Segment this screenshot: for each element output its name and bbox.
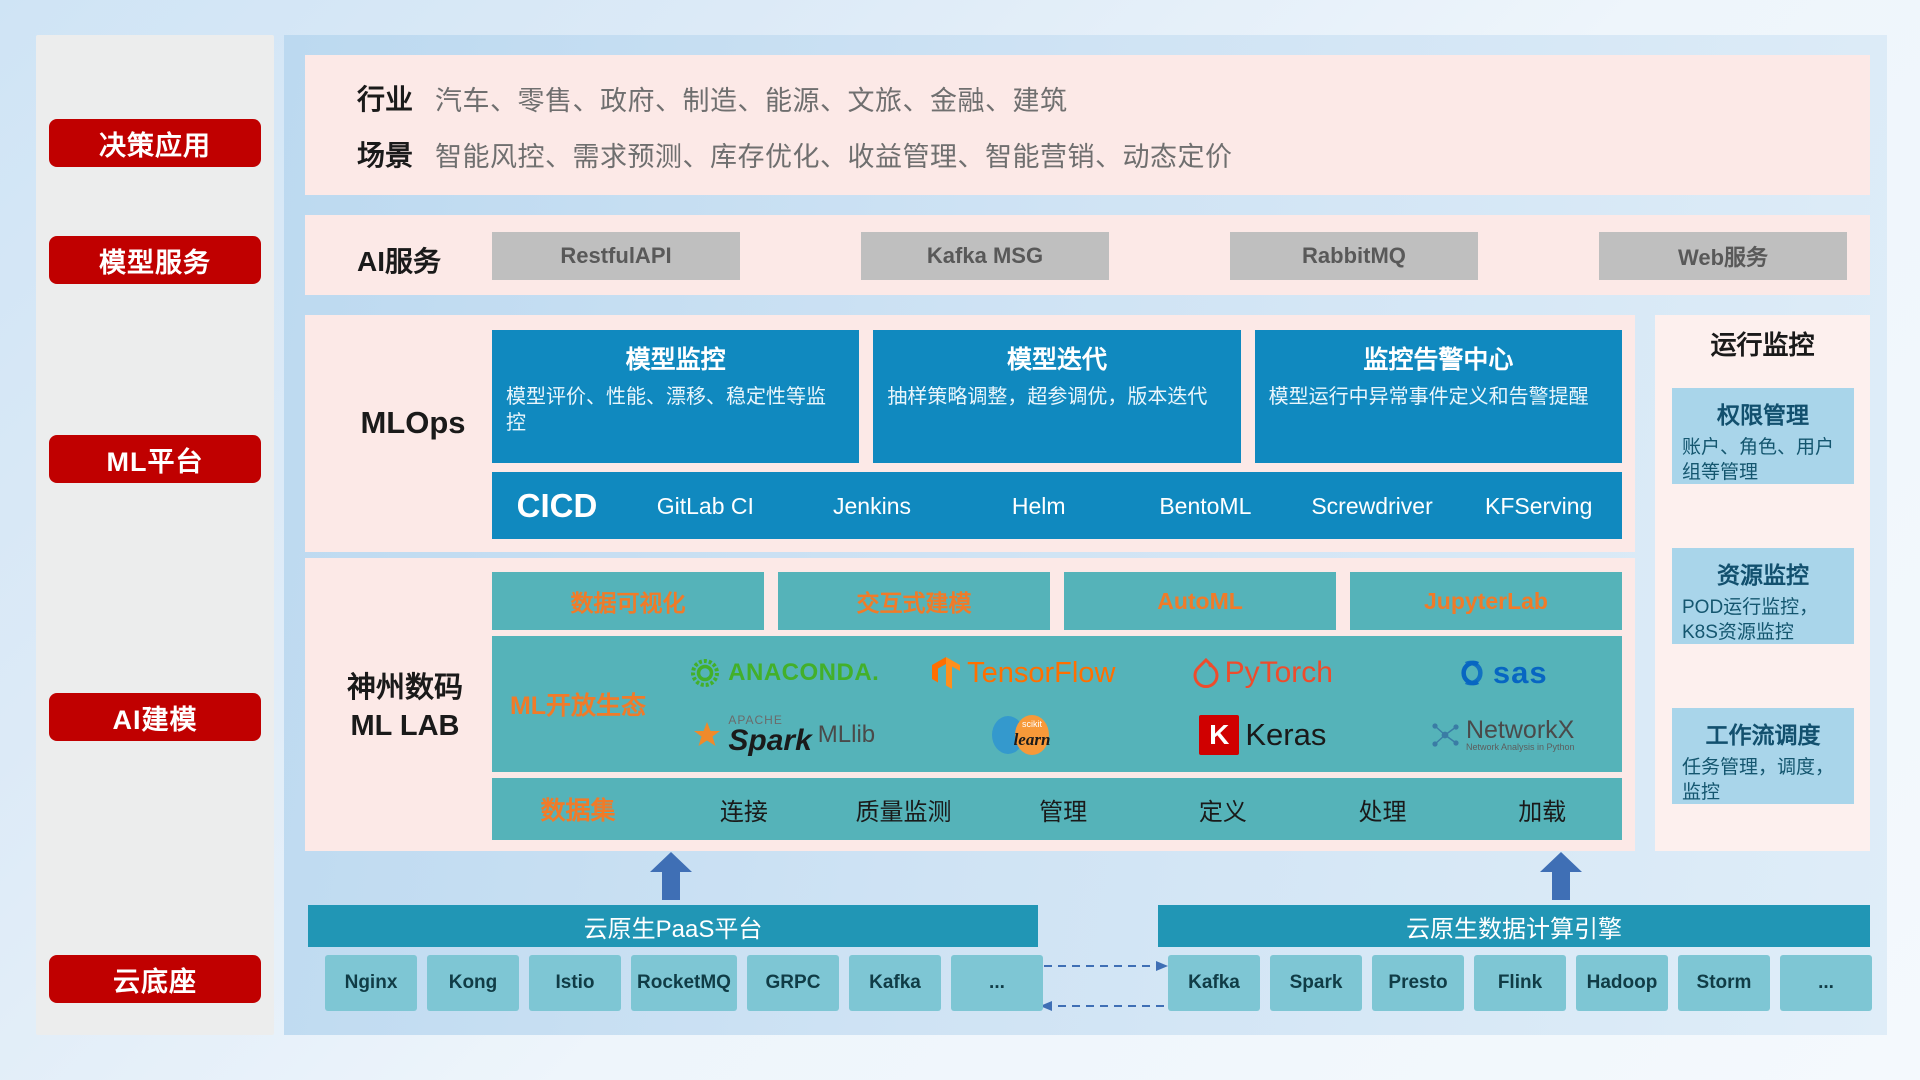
rail-item-label: 模型服务: [99, 241, 211, 280]
data-engine-tag-presto[interactable]: Presto: [1372, 955, 1464, 1011]
ai-service-chip-web-service[interactable]: Web服务: [1599, 232, 1847, 280]
rail-item-label: AI建模: [113, 698, 198, 737]
dataset-item-quality[interactable]: 质量监测: [824, 792, 984, 827]
ai-service-chip-list: RestfulAPI Kafka MSG RabbitMQ Web服务: [492, 232, 1852, 280]
tensorflow-label: TensorFlow: [967, 657, 1115, 690]
ml-ecosystem-title: ML开放生态: [492, 686, 664, 722]
card-desc: 任务管理，调度，监控: [1682, 756, 1844, 804]
networkx-logo: NetworkX Network Analysis in Python: [1383, 704, 1623, 766]
data-engine-tag-spark[interactable]: Spark: [1270, 955, 1362, 1011]
paas-tag-kong[interactable]: Kong: [427, 955, 519, 1011]
card-desc: 模型运行中异常事件定义和告警提醒: [1269, 384, 1608, 410]
industry-label: 行业: [305, 78, 435, 118]
mlops-label: MLOps: [338, 405, 488, 441]
scenario-label: 场景: [305, 134, 435, 174]
bidirectional-dashed-link-icon: [1040, 950, 1168, 1020]
industry-values: 汽车、零售、政府、制造、能源、文旅、金融、建筑: [435, 79, 1068, 118]
cicd-item-helm[interactable]: Helm: [955, 493, 1122, 518]
rail-item-label: 决策应用: [99, 124, 211, 163]
ml-ecosystem-bar: ML开放生态 ANACONDA. TensorFlow: [492, 636, 1622, 772]
data-engine-tag-list: Kafka Spark Presto Flink Hadoop Storm ..…: [1168, 955, 1872, 1011]
data-engine-tag-storm[interactable]: Storm: [1678, 955, 1770, 1011]
scikit-learn-logo: scikit learn: [904, 704, 1144, 766]
data-engine-tag-more[interactable]: ...: [1780, 955, 1872, 1011]
card-title: 工作流调度: [1682, 716, 1844, 750]
dataset-item-connect[interactable]: 连接: [664, 792, 824, 827]
mlops-card-model-monitoring[interactable]: 模型监控 模型评价、性能、漂移、稳定性等监控: [492, 330, 859, 463]
mlops-card-list: 模型监控 模型评价、性能、漂移、稳定性等监控 模型迭代 抽样策略调整，超参调优，…: [492, 330, 1622, 463]
paas-tag-istio[interactable]: Istio: [529, 955, 621, 1011]
ai-service-chip-rabbitmq[interactable]: RabbitMQ: [1230, 232, 1478, 280]
cicd-item-gitlab-ci[interactable]: GitLab CI: [622, 493, 789, 518]
sas-logo: sas: [1383, 642, 1623, 704]
ml-lab-label-line1: 神州数码: [322, 670, 488, 708]
tab-interactive-modeling[interactable]: 交互式建模: [778, 572, 1050, 630]
paas-tag-grpc[interactable]: GRPC: [747, 955, 839, 1011]
networkx-label: NetworkX: [1466, 717, 1575, 743]
anaconda-label: ANACONDA.: [728, 659, 879, 687]
pytorch-label: PyTorch: [1225, 656, 1333, 690]
mllib-label: MLlib: [818, 721, 875, 749]
ml-lab-tab-list: 数据可视化 交互式建模 AutoML JupyterLab: [492, 572, 1622, 630]
tensorflow-glyph: [931, 656, 961, 690]
dataset-item-manage[interactable]: 管理: [983, 792, 1143, 827]
ml-lab-label-line2: ML LAB: [322, 708, 488, 746]
rail-item-ml-platform[interactable]: ML平台: [49, 435, 261, 483]
scenario-values: 智能风控、需求预测、库存优化、收益管理、智能营销、动态定价: [435, 135, 1233, 174]
mlops-card-alert-center[interactable]: 监控告警中心 模型运行中异常事件定义和告警提醒: [1255, 330, 1622, 463]
dataset-item-load[interactable]: 加载: [1462, 792, 1622, 827]
card-desc: 抽样策略调整，超参调优，版本迭代: [887, 384, 1226, 410]
ops-card-workflow-scheduling[interactable]: 工作流调度 任务管理，调度，监控: [1672, 708, 1854, 804]
ops-card-permission-management[interactable]: 权限管理 账户、角色、用户组等管理: [1672, 388, 1854, 484]
spark-mllib-logo: APACHE Spark MLlib: [664, 704, 904, 766]
rail-item-model-service[interactable]: 模型服务: [49, 236, 261, 284]
architecture-diagram: 决策应用 模型服务 ML平台 AI建模 云底座 行业 汽车、零售、政府、制造、能…: [0, 0, 1920, 1080]
cloud-native-paas-title: 云原生PaaS平台: [584, 909, 763, 944]
rail-item-cloud-base[interactable]: 云底座: [49, 955, 261, 1003]
tensorflow-logo: TensorFlow: [904, 642, 1144, 704]
keras-label: Keras: [1245, 717, 1326, 753]
spark-label: Spark: [728, 726, 811, 756]
cicd-title: CICD: [492, 487, 622, 525]
cicd-item-kfserving[interactable]: KFServing: [1455, 493, 1622, 518]
card-title: 模型监控: [506, 340, 845, 376]
tab-automl[interactable]: AutoML: [1064, 572, 1336, 630]
ml-lab-label: 神州数码 ML LAB: [322, 670, 488, 745]
rail-item-decision-apps[interactable]: 决策应用: [49, 119, 261, 167]
svg-text:learn: learn: [1014, 730, 1051, 749]
card-desc: 账户、角色、用户组等管理: [1682, 436, 1844, 484]
networkx-glyph: [1430, 720, 1460, 750]
svg-text:scikit: scikit: [1022, 719, 1042, 729]
cloud-native-paas-bar: 云原生PaaS平台: [308, 905, 1038, 947]
paas-tag-kafka[interactable]: Kafka: [849, 955, 941, 1011]
data-engine-tag-flink[interactable]: Flink: [1474, 955, 1566, 1011]
card-title: 监控告警中心: [1269, 340, 1608, 376]
cicd-bar: CICD GitLab CI Jenkins Helm BentoML Scre…: [492, 472, 1622, 539]
card-title: 模型迭代: [887, 340, 1226, 376]
mlops-card-model-iteration[interactable]: 模型迭代 抽样策略调整，超参调优，版本迭代: [873, 330, 1240, 463]
anaconda-logo: ANACONDA.: [664, 642, 904, 704]
sas-label: sas: [1493, 655, 1548, 691]
cloud-native-data-engine-bar: 云原生数据计算引擎: [1158, 905, 1870, 947]
card-title: 权限管理: [1682, 396, 1844, 430]
ai-service-chip-restfulapi[interactable]: RestfulAPI: [492, 232, 740, 280]
pytorch-logo: PyTorch: [1143, 642, 1383, 704]
scikit-learn-glyph: scikit learn: [988, 713, 1058, 757]
networkx-wordmark: NetworkX Network Analysis in Python: [1466, 717, 1575, 753]
tab-data-visualization[interactable]: 数据可视化: [492, 572, 764, 630]
ops-card-resource-monitoring[interactable]: 资源监控 POD运行监控，K8S资源监控: [1672, 548, 1854, 644]
paas-tag-rocketmq[interactable]: RocketMQ: [631, 955, 737, 1011]
rail-item-ai-modeling[interactable]: AI建模: [49, 693, 261, 741]
networkx-sublabel: Network Analysis in Python: [1466, 743, 1575, 752]
ai-service-chip-kafka-msg[interactable]: Kafka MSG: [861, 232, 1109, 280]
spark-star-glyph: [692, 720, 722, 750]
up-arrow-paas-icon: [650, 852, 692, 900]
ops-monitoring-title: 运行监控: [1655, 325, 1870, 362]
rail-item-label: ML平台: [107, 440, 204, 479]
pytorch-glyph: [1193, 657, 1219, 689]
layer-rail: 决策应用 模型服务 ML平台 AI建模 云底座: [36, 35, 274, 1035]
paas-tag-list: Nginx Kong Istio RocketMQ GRPC Kafka ...: [325, 955, 1043, 1011]
dataset-item-process[interactable]: 处理: [1303, 792, 1463, 827]
scenario-row: 场景 智能风控、需求预测、库存优化、收益管理、智能营销、动态定价: [305, 126, 1870, 182]
data-engine-tag-hadoop[interactable]: Hadoop: [1576, 955, 1668, 1011]
data-engine-tag-kafka[interactable]: Kafka: [1168, 955, 1260, 1011]
card-title: 资源监控: [1682, 556, 1844, 590]
industry-row: 行业 汽车、零售、政府、制造、能源、文旅、金融、建筑: [305, 70, 1870, 126]
dataset-bar: 数据集 连接 质量监测 管理 定义 处理 加载: [492, 778, 1622, 840]
keras-mark: K: [1199, 715, 1239, 755]
paas-tag-more[interactable]: ...: [951, 955, 1043, 1011]
cicd-item-jenkins[interactable]: Jenkins: [789, 493, 956, 518]
card-desc: 模型评价、性能、漂移、稳定性等监控: [506, 384, 845, 437]
up-arrow-data-engine-icon: [1540, 852, 1582, 900]
keras-logo: K Keras: [1143, 704, 1383, 766]
cicd-item-bentoml[interactable]: BentoML: [1122, 493, 1289, 518]
cloud-native-data-engine-title: 云原生数据计算引擎: [1406, 909, 1622, 944]
dataset-item-define[interactable]: 定义: [1143, 792, 1303, 827]
cicd-item-screwdriver[interactable]: Screwdriver: [1289, 493, 1456, 518]
anaconda-glyph: [688, 656, 722, 690]
spark-wordmark: APACHE Spark: [728, 714, 811, 756]
ml-ecosystem-logo-grid: ANACONDA. TensorFlow PyTorch: [664, 642, 1622, 766]
tab-jupyterlab[interactable]: JupyterLab: [1350, 572, 1622, 630]
sas-glyph: [1457, 658, 1487, 688]
dataset-title: 数据集: [492, 791, 664, 827]
rail-item-label: 云底座: [113, 960, 197, 999]
card-desc: POD运行监控，K8S资源监控: [1682, 596, 1844, 644]
ai-service-label: AI服务: [357, 240, 497, 280]
paas-tag-nginx[interactable]: Nginx: [325, 955, 417, 1011]
